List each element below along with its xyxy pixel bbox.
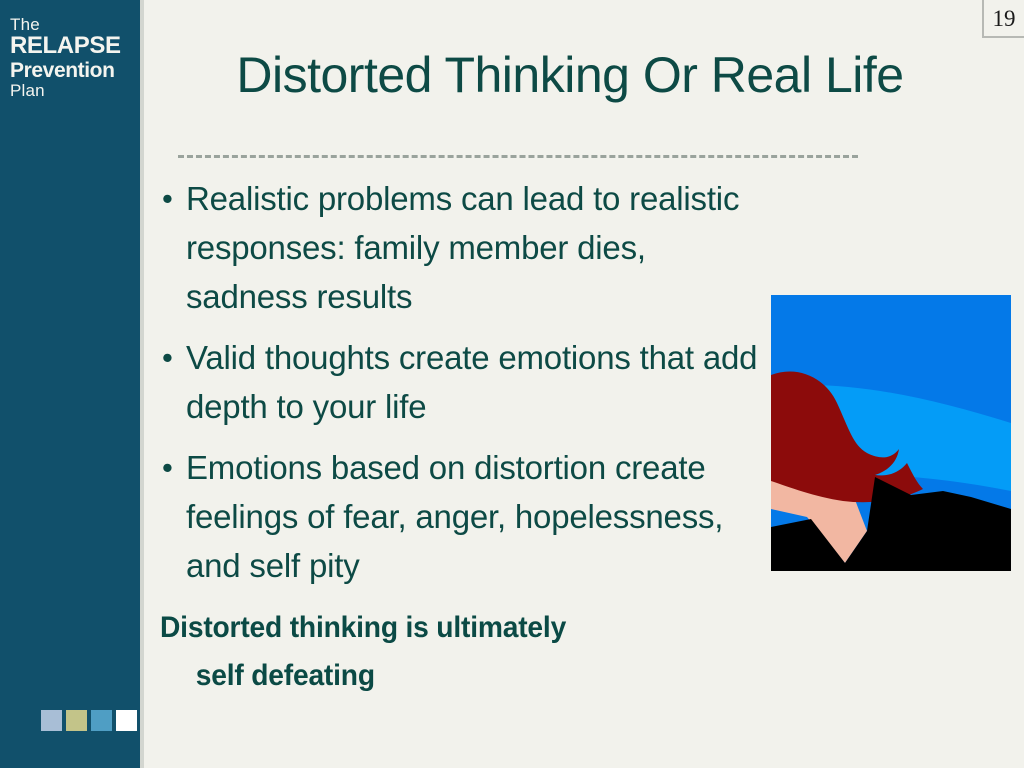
slide: The RELAPSE Prevention Plan 19 Distorted… [0,0,1024,768]
slide-title: Distorted Thinking Or Real Life [160,46,980,104]
brand-sidebar [0,0,140,768]
bullet-marker-icon: • [158,174,186,223]
swatch-khaki [66,710,87,731]
logo-line-prevention: Prevention [10,60,140,81]
swatch-white [116,710,137,731]
swatch-blue [91,710,112,731]
logo-line-relapse: RELAPSE [10,34,140,58]
bullet-list: • Realistic problems can lead to realist… [158,174,758,602]
list-item: • Valid thoughts create emotions that ad… [158,333,758,431]
swatch-light-blue [41,710,62,731]
bullet-text: Realistic problems can lead to realistic… [186,174,758,321]
title-divider [178,155,858,158]
bullet-marker-icon: • [158,333,186,382]
logo-line-the: The [10,16,140,33]
bullet-text: Valid thoughts create emotions that add … [186,333,758,431]
color-swatch-strip [41,710,137,731]
list-item: • Realistic problems can lead to realist… [158,174,758,321]
bullet-text: Emotions based on distortion create feel… [186,443,758,590]
page-number-box: 19 [982,0,1024,38]
sidebar-edge-divider [140,0,144,768]
conclusion-line-1: Distorted thinking is ultimately [160,611,566,644]
page-number: 19 [984,6,1024,32]
portrait-illustration [771,295,1011,571]
list-item: • Emotions based on distortion create fe… [158,443,758,590]
conclusion-line-2: self defeating [160,652,724,700]
conclusion-statement: Distorted thinking is ultimately self de… [160,604,724,700]
brand-logo: The RELAPSE Prevention Plan [10,16,140,100]
bullet-marker-icon: • [158,443,186,492]
portrait-illustration-svg [771,295,1011,571]
logo-line-plan: Plan [10,82,140,99]
